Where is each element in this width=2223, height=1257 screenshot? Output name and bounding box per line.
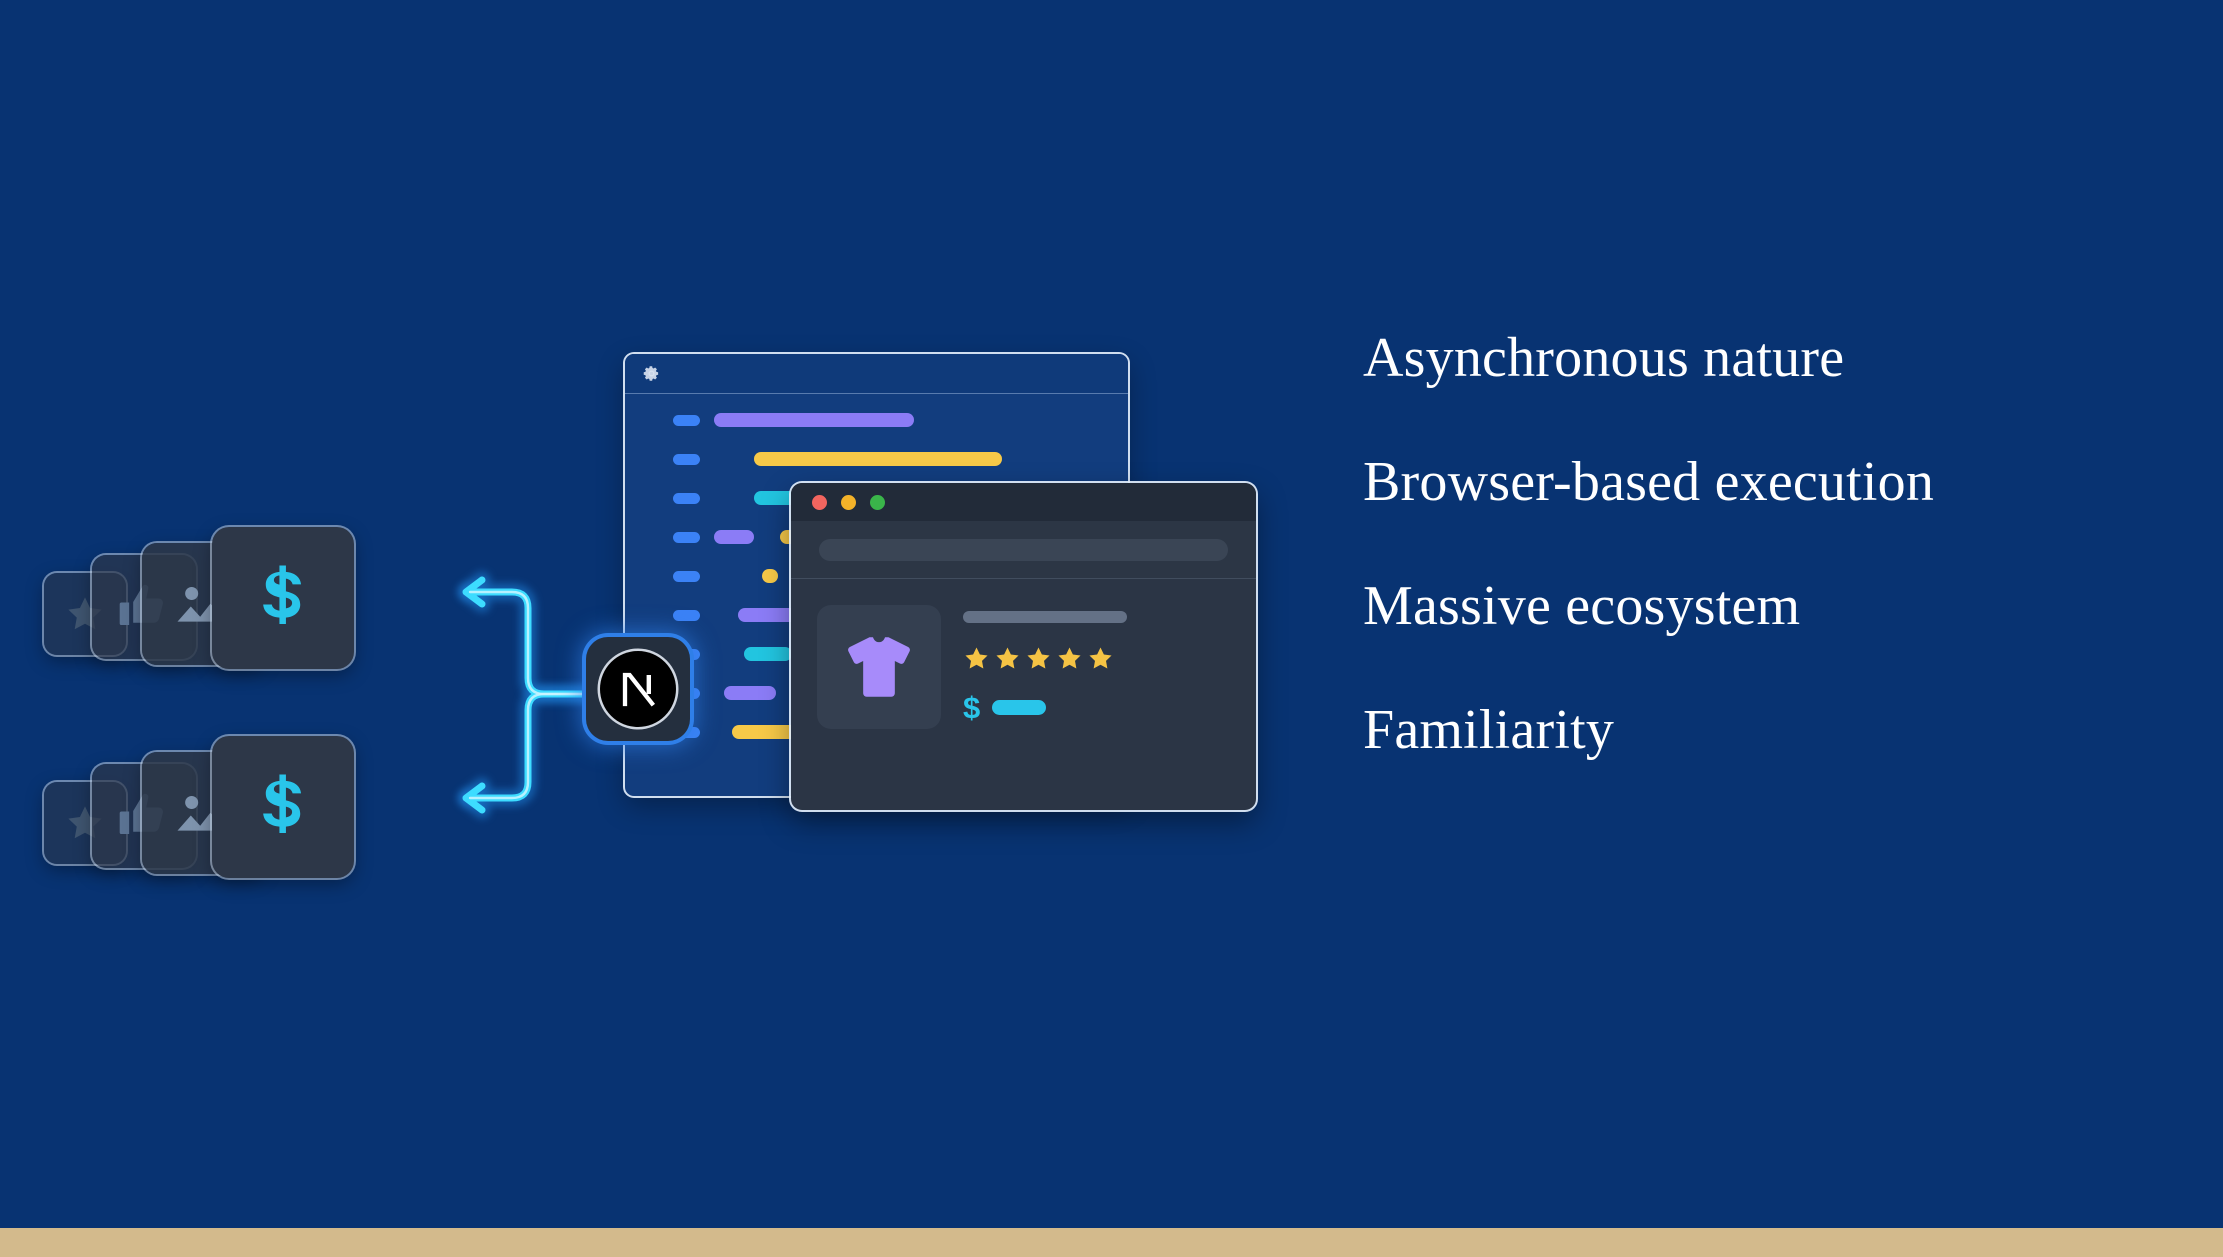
maximize-button[interactable] [870,495,885,510]
star-icon[interactable] [1087,645,1114,672]
product-card: $ [791,579,1256,729]
nextjs-logo-icon [600,651,676,727]
bullet-item-4: Familiarity [1363,702,2183,758]
price-value-placeholder [992,700,1046,715]
bottom-accent-strip [0,1228,2223,1257]
bullet-item-2: Browser-based execution [1363,454,2183,510]
code-line [625,451,1128,467]
dollar-icon [244,559,322,637]
product-details: $ [963,605,1230,729]
star-icon[interactable] [1056,645,1083,672]
star-icon[interactable] [1025,645,1052,672]
url-input[interactable] [819,539,1228,561]
star-icon[interactable] [963,645,990,672]
line-number-marker [673,610,700,621]
feature-bullet-list: Asynchronous natureBrowser-based executi… [1363,330,2183,758]
product-price: $ [963,692,1230,723]
line-number-marker [673,454,700,465]
code-token [714,530,754,544]
code-token [744,647,792,661]
code-token [754,452,1002,466]
product-rating[interactable] [963,645,1230,672]
close-button[interactable] [812,495,827,510]
card-dollar-upper[interactable] [212,527,354,669]
code-token [762,569,778,583]
line-number-marker [673,532,700,543]
upper-card-stack [44,527,364,677]
code-token [714,413,914,427]
line-number-marker [673,571,700,582]
minimize-button[interactable] [841,495,856,510]
nextjs-badge[interactable] [586,637,690,741]
card-dollar-lower[interactable] [212,736,354,878]
star-icon[interactable] [994,645,1021,672]
slide-canvas: $ Asynchronous natureBrowser-based execu… [0,0,2223,1257]
lower-card-stack [44,736,364,886]
line-number-marker [673,415,700,426]
code-line [625,412,1128,428]
editor-title-bar [625,354,1128,394]
browser-url-bar[interactable] [791,521,1256,579]
product-title-placeholder [963,611,1127,623]
dollar-icon [244,768,322,846]
product-image[interactable] [817,605,941,729]
bullet-item-3: Massive ecosystem [1363,578,2183,634]
code-token [724,686,776,700]
price-currency-symbol: $ [963,692,980,723]
tshirt-icon [841,629,917,705]
line-number-marker [673,493,700,504]
product-browser-window[interactable]: $ [791,483,1256,810]
bullet-item-1: Asynchronous nature [1363,330,2183,386]
browser-title-bar [791,483,1256,521]
gear-icon[interactable] [642,364,661,383]
